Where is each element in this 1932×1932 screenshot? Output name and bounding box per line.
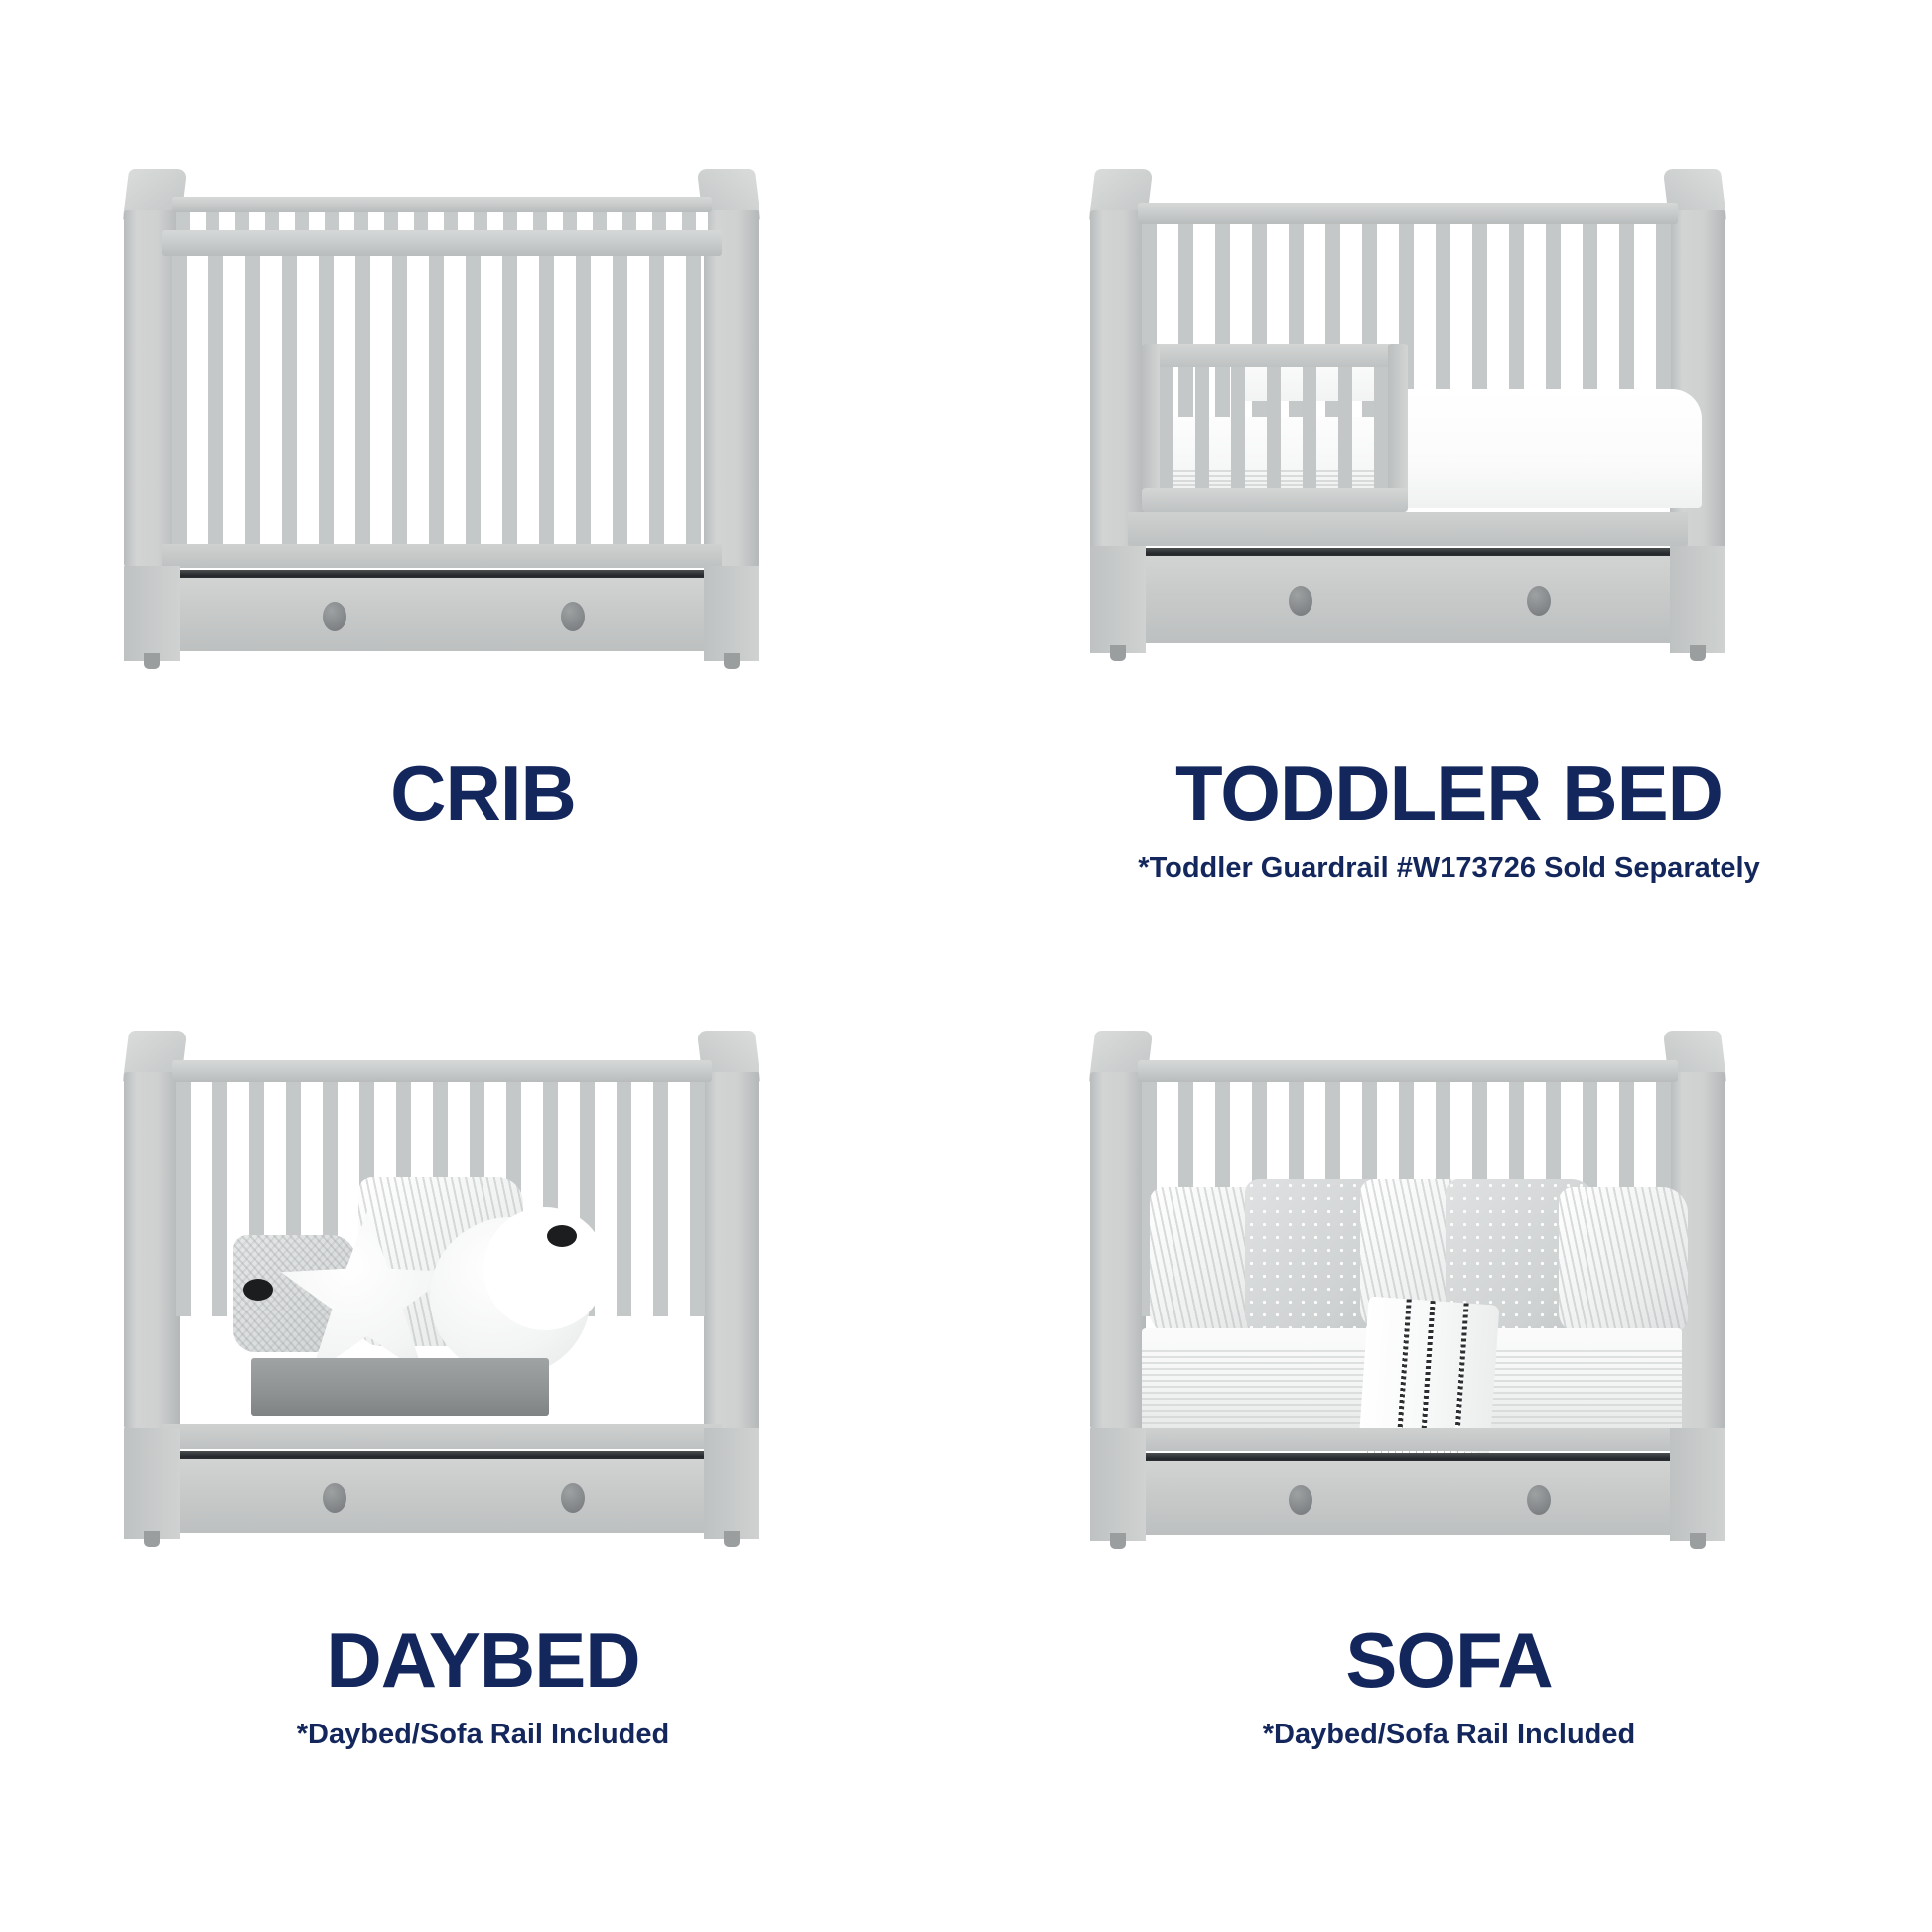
throw-stripe [1396, 1299, 1411, 1448]
guardrail-post-left [1142, 344, 1160, 512]
sofa-leg-right [1670, 1428, 1725, 1541]
drawer-knob-icon[interactable] [561, 602, 585, 631]
panel-toddler-bed: TODDLER BED *Toddler Guardrail #W173726 … [966, 0, 1932, 966]
daybed-post-left [124, 1072, 180, 1428]
toddler-fitted-sheet [1388, 389, 1702, 508]
crib-bottom-rail [162, 544, 722, 568]
crib-storage-drawer[interactable] [176, 578, 720, 651]
daybed-bottom-rail [162, 1424, 722, 1449]
caster-icon [724, 653, 740, 669]
sofa-ribbed-pillow-3 [1559, 1187, 1688, 1334]
toddler-bed-illustration [1050, 169, 1765, 616]
toddler-leg-right [1670, 546, 1725, 653]
moon-inner-cut [483, 1207, 607, 1330]
guardrail-slats [1160, 367, 1388, 488]
daybed-title: DAYBED [0, 1621, 966, 1699]
daybed-post-right [704, 1072, 759, 1428]
caster-icon [1110, 645, 1126, 661]
sofa-leg-left [1090, 1428, 1146, 1541]
toddler-guardrail [1142, 344, 1408, 512]
crib-post-right [704, 210, 759, 566]
crib-front-top-rail [162, 230, 722, 256]
daybed-storage-drawer[interactable] [176, 1459, 720, 1533]
drawer-knob-icon[interactable] [1527, 1485, 1551, 1515]
drawer-knob-icon[interactable] [561, 1483, 585, 1513]
sofa-storage-drawer[interactable] [1142, 1461, 1686, 1535]
toddler-storage-drawer[interactable] [1142, 556, 1686, 643]
pillow-corner-tip-icon [547, 1225, 577, 1247]
sofa-back-top-rail [1138, 1060, 1678, 1082]
crib-leg-right [704, 566, 759, 661]
drawer-knob-icon[interactable] [1289, 1485, 1312, 1515]
crib-illustration [84, 169, 799, 616]
panel-daybed: DAYBED *Daybed/Sofa Rail Included [0, 966, 966, 1932]
infographic-root: CRIB [0, 0, 1932, 1932]
toddler-leg-left [1090, 546, 1146, 653]
toddler-back-top-rail [1138, 203, 1678, 224]
drawer-knob-icon[interactable] [1289, 586, 1312, 616]
daybed-label-block: DAYBED *Daybed/Sofa Rail Included [0, 1621, 966, 1749]
panel-crib: CRIB [0, 0, 966, 966]
toddler-bottom-rail [1128, 512, 1688, 546]
guardrail-post-right [1388, 344, 1408, 512]
caster-icon [724, 1531, 740, 1547]
daybed-illustration [84, 1031, 799, 1477]
sofa-label-block: SOFA *Daybed/Sofa Rail Included [966, 1621, 1932, 1749]
toddler-bed-title: TODDLER BED [966, 755, 1932, 832]
guardrail-top-rail [1142, 344, 1408, 367]
crib-label-block: CRIB [0, 755, 966, 832]
drawer-knob-icon[interactable] [1527, 586, 1551, 616]
guardrail-bottom-rail [1142, 488, 1408, 512]
daybed-bolster-cushion [251, 1358, 549, 1416]
daybed-leg-left [124, 1428, 180, 1539]
toddler-label-block: TODDLER BED *Toddler Guardrail #W173726 … [966, 755, 1932, 883]
sofa-bottom-rail [1128, 1428, 1688, 1451]
caster-icon [1690, 1533, 1706, 1549]
caster-icon [1110, 1533, 1126, 1549]
panel-sofa: SOFA *Daybed/Sofa Rail Included [966, 966, 1932, 1932]
sofa-post-left [1090, 1072, 1146, 1428]
daybed-back-top-rail [172, 1060, 712, 1082]
crib-back-rail [172, 197, 712, 212]
crib-title: CRIB [0, 755, 966, 832]
drawer-knob-icon[interactable] [323, 602, 346, 631]
crib-back-slats [176, 212, 708, 232]
pillow-corner-tip-icon [243, 1279, 273, 1301]
crib-front-slats [172, 256, 712, 544]
daybed-note: *Daybed/Sofa Rail Included [0, 1721, 966, 1749]
toddler-bed-note: *Toddler Guardrail #W173726 Sold Separat… [966, 854, 1932, 883]
caster-icon [144, 653, 160, 669]
caster-icon [144, 1531, 160, 1547]
sofa-illustration [1050, 1031, 1765, 1477]
sofa-title: SOFA [966, 1621, 1932, 1699]
crib-leg-left [124, 566, 180, 661]
drawer-knob-icon[interactable] [323, 1483, 346, 1513]
caster-icon [1690, 645, 1706, 661]
daybed-leg-right [704, 1428, 759, 1539]
sofa-note: *Daybed/Sofa Rail Included [966, 1721, 1932, 1749]
